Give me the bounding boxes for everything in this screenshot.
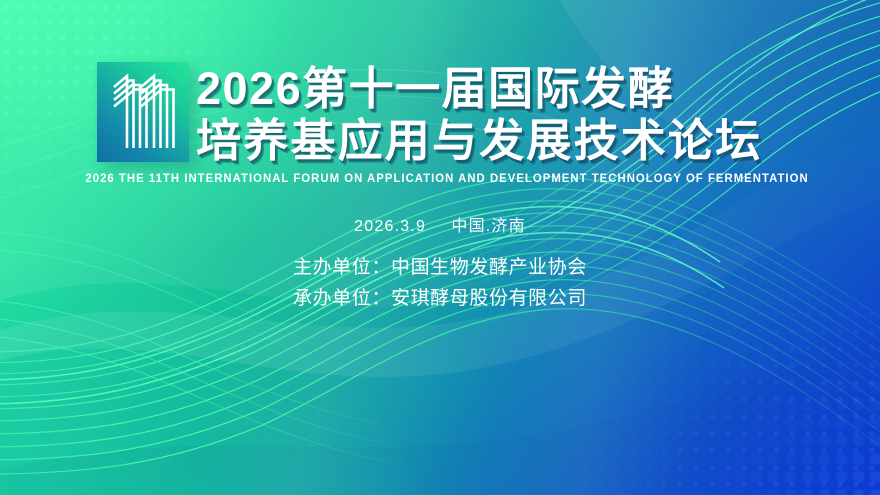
edition-number-badge (97, 62, 189, 162)
event-title: 2026第十一届国际发酵 培养基应用与发展技术论坛 (196, 63, 816, 167)
striped-eleven-icon (97, 62, 189, 162)
co-organizer-organization: 承办单位：安琪酵母股份有限公司 (0, 283, 880, 314)
banner-content: 2026第十一届国际发酵 培养基应用与发展技术论坛 2026 THE 11TH … (0, 0, 880, 495)
event-banner: 2026第十一届国际发酵 培养基应用与发展技术论坛 2026 THE 11TH … (0, 0, 880, 495)
event-subtitle-english: 2026 THE 11TH INTERNATIONAL FORUM ON APP… (85, 173, 796, 185)
host-organization: 主办单位：中国生物发酵产业协会 (0, 252, 880, 283)
organizer-block: 主办单位：中国生物发酵产业协会 承办单位：安琪酵母股份有限公司 (0, 252, 880, 314)
event-date: 2026.3.9 (354, 218, 426, 235)
event-location: 中国.济南 (451, 218, 525, 235)
event-title-line-2: 培养基应用与发展技术论坛 (196, 115, 816, 167)
event-date-location: 2026.3.9 中国.济南 (0, 212, 880, 236)
event-title-line-1: 2026第十一届国际发酵 (196, 63, 816, 115)
